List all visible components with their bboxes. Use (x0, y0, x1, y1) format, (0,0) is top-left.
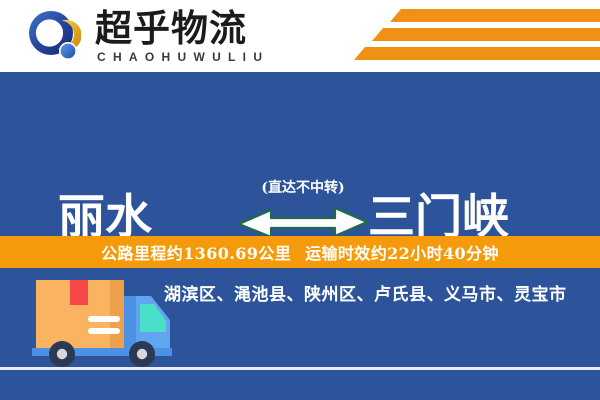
distance-text: 公路里程约1360.69公里 (101, 240, 291, 264)
stripe-1 (390, 9, 600, 22)
header: 超乎物流 CHAOHUWULIU (0, 0, 600, 72)
decorative-stripes (330, 6, 600, 66)
logistics-route-banner: 超乎物流 CHAOHUWULIU 丽水 (直达不中转) 【往返运输】 三门峡 公… (0, 0, 600, 400)
stripe-2 (372, 28, 600, 41)
delivery-truck-icon (18, 274, 178, 370)
info-bar: 公路里程约1360.69公里 运输时效约22小时40分钟 (0, 236, 600, 268)
duration-text: 运输时效约22小时40分钟 (305, 240, 499, 264)
brand-name-cn: 超乎物流 (95, 8, 247, 48)
direct-service-note: (直达不中转) (243, 177, 363, 197)
coverage-districts: 湖滨区、渑池县、陕州区、卢氏县、义马市、灵宝市 (164, 280, 584, 305)
circle-crescent-logo-icon (27, 10, 81, 64)
stripe-3 (354, 47, 600, 60)
road-line (0, 367, 600, 370)
route-banner-main: 丽水 (直达不中转) 【往返运输】 三门峡 (0, 72, 600, 236)
brand-name-en: CHAOHUWULIU (97, 50, 269, 64)
footer: 湖滨区、渑池县、陕州区、卢氏县、义马市、灵宝市 (0, 268, 600, 400)
